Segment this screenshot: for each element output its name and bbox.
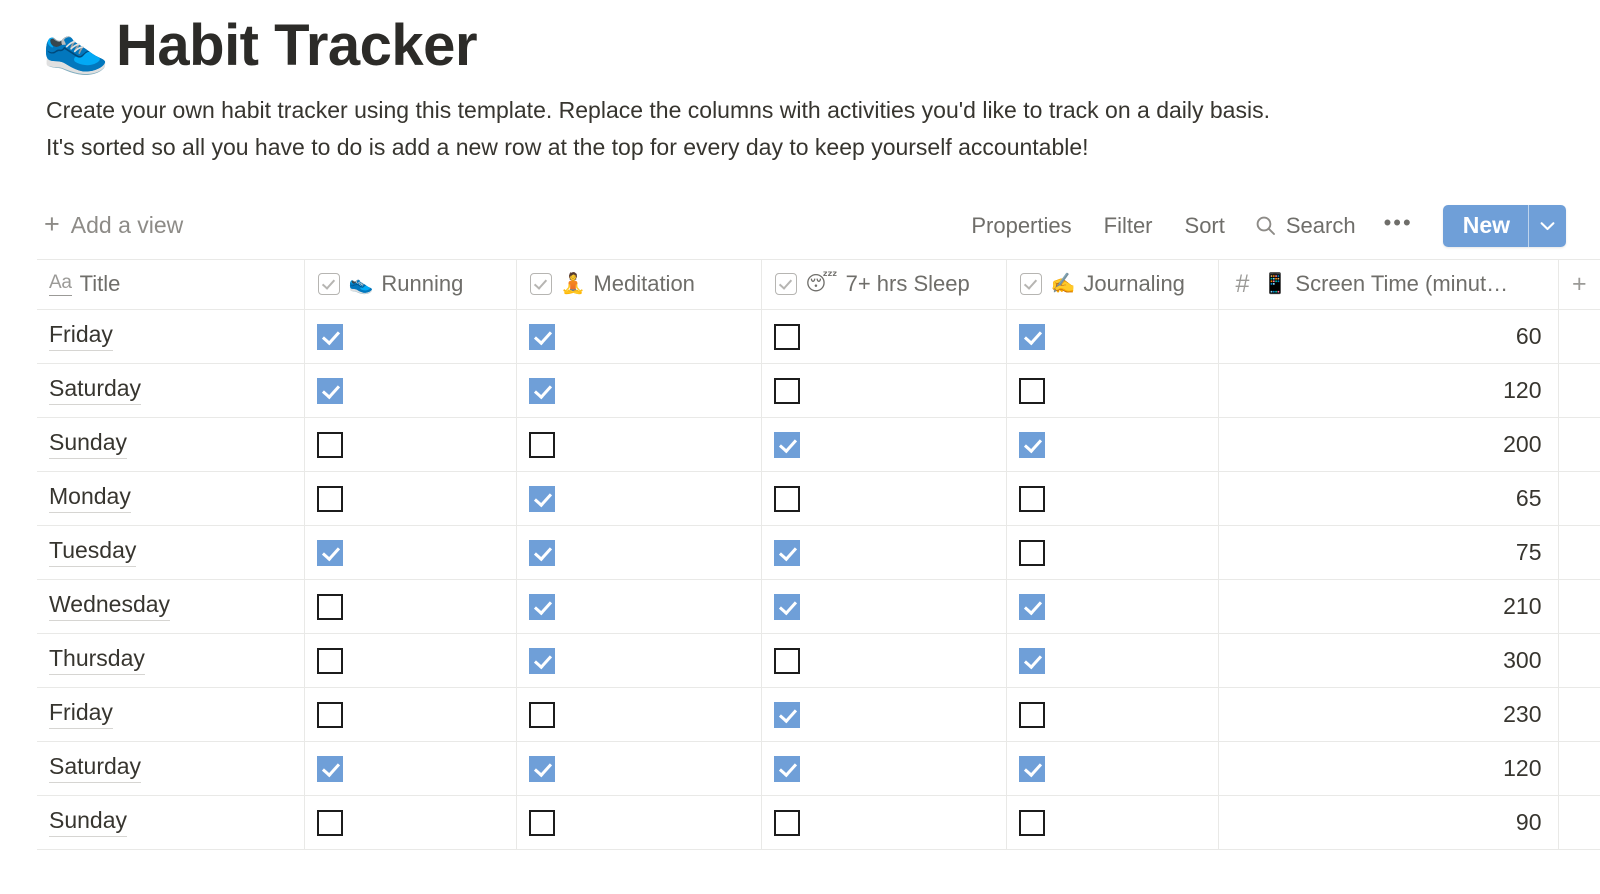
cell-spacer [1558, 309, 1600, 363]
cell-meditation[interactable] [516, 417, 761, 471]
checkbox-checked[interactable] [1019, 648, 1045, 674]
table-row[interactable]: Tuesday75 [37, 525, 1600, 579]
cell-sleep[interactable] [761, 741, 1006, 795]
checkbox-unchecked[interactable] [774, 378, 800, 404]
cell-screen-time[interactable]: 210 [1218, 579, 1558, 633]
table-row[interactable]: Thursday300 [37, 633, 1600, 687]
checkbox-icon [529, 272, 553, 296]
checkbox-unchecked[interactable] [317, 486, 343, 512]
row-title-cell[interactable]: Thursday [37, 633, 304, 687]
checkbox-checked[interactable] [1019, 594, 1045, 620]
cell-running[interactable] [304, 309, 516, 363]
new-button[interactable]: New [1443, 205, 1528, 247]
cell-meditation[interactable] [516, 363, 761, 417]
checkbox-checked[interactable] [774, 702, 800, 728]
checkbox-unchecked[interactable] [1019, 486, 1045, 512]
cell-screen-time[interactable]: 300 [1218, 633, 1558, 687]
cell-screen-time[interactable]: 90 [1218, 795, 1558, 849]
cell-meditation[interactable] [516, 795, 761, 849]
checkbox-checked[interactable] [529, 594, 555, 620]
sort-button[interactable]: Sort [1169, 209, 1241, 243]
habit-table: Aa Title 👟 Running [37, 259, 1600, 850]
database-table-container: Aa Title 👟 Running [0, 259, 1600, 850]
checkbox-unchecked[interactable] [774, 324, 800, 350]
column-header-screen-time[interactable]: # 📱 Screen Time (minut… [1218, 259, 1558, 309]
cell-sleep[interactable] [761, 417, 1006, 471]
cell-running[interactable] [304, 471, 516, 525]
writing-hand-icon: ✍️ [1051, 274, 1076, 294]
row-title-link[interactable]: Monday [49, 484, 131, 512]
cell-journaling[interactable] [1006, 525, 1218, 579]
checkbox-unchecked[interactable] [529, 702, 555, 728]
checkbox-checked[interactable] [774, 594, 800, 620]
running-shoe-icon: 👟 [349, 274, 374, 294]
add-view-label: Add a view [71, 212, 184, 239]
add-view-button[interactable]: + Add a view [38, 212, 183, 239]
cell-spacer [1558, 417, 1600, 471]
checkbox-icon [317, 272, 341, 296]
database-toolbar: + Add a view Properties Filter Sort Sear… [38, 203, 1566, 249]
plus-icon: + [44, 211, 60, 238]
running-shoe-icon[interactable]: 👟 [42, 19, 100, 73]
header-row: Aa Title 👟 Running [37, 259, 1600, 309]
row-title-cell[interactable]: Wednesday [37, 579, 304, 633]
table-row[interactable]: Monday65 [37, 471, 1600, 525]
row-title-link[interactable]: Sunday [49, 808, 127, 836]
cell-screen-time[interactable]: 200 [1218, 417, 1558, 471]
row-title-cell[interactable]: Friday [37, 309, 304, 363]
meditation-icon: 🧘 [561, 274, 586, 294]
cell-sleep[interactable] [761, 471, 1006, 525]
habit-tracker-page: 👟 Habit Tracker Create your own habit tr… [0, 0, 1600, 894]
cell-spacer [1558, 795, 1600, 849]
add-column-button[interactable]: + [1558, 259, 1600, 309]
row-title-link[interactable]: Friday [49, 700, 113, 728]
row-title-link[interactable]: Tuesday [49, 538, 136, 566]
search-icon [1255, 215, 1276, 236]
cell-running[interactable] [304, 363, 516, 417]
column-header-running-label: Running [381, 271, 463, 297]
column-header-sleep[interactable]: 😴 7+ hrs Sleep [761, 259, 1006, 309]
checkbox-unchecked[interactable] [317, 648, 343, 674]
row-title-link[interactable]: Friday [49, 322, 113, 350]
checkbox-unchecked[interactable] [774, 810, 800, 836]
row-title-link[interactable]: Thursday [49, 646, 145, 674]
checkbox-unchecked[interactable] [1019, 540, 1045, 566]
row-title-cell[interactable]: Monday [37, 471, 304, 525]
mobile-phone-icon: 📱 [1263, 274, 1288, 294]
checkbox-checked[interactable] [1019, 432, 1045, 458]
table-row[interactable]: Friday230 [37, 687, 1600, 741]
properties-button[interactable]: Properties [955, 209, 1087, 243]
cell-running[interactable] [304, 795, 516, 849]
aa-icon: Aa [49, 272, 72, 296]
cell-journaling[interactable] [1006, 309, 1218, 363]
column-header-journaling[interactable]: ✍️ Journaling [1006, 259, 1218, 309]
table-row[interactable]: Wednesday210 [37, 579, 1600, 633]
row-title-link[interactable]: Saturday [49, 376, 141, 404]
cell-screen-time[interactable]: 120 [1218, 741, 1558, 795]
hash-icon: # [1231, 272, 1255, 296]
column-header-title-label: Title [80, 271, 121, 297]
page-description: Create your own habit tracker using this… [0, 84, 1290, 167]
column-header-sleep-label: 7+ hrs Sleep [846, 271, 970, 297]
cell-meditation[interactable] [516, 633, 761, 687]
row-title-link[interactable]: Wednesday [49, 592, 170, 620]
checkbox-checked[interactable] [529, 378, 555, 404]
cell-running[interactable] [304, 633, 516, 687]
cell-screen-time[interactable]: 65 [1218, 471, 1558, 525]
checkbox-checked[interactable] [1019, 324, 1045, 350]
cell-journaling[interactable] [1006, 633, 1218, 687]
cell-journaling[interactable] [1006, 579, 1218, 633]
cell-sleep[interactable] [761, 525, 1006, 579]
checkbox-unchecked[interactable] [1019, 702, 1045, 728]
column-header-meditation[interactable]: 🧘 Meditation [516, 259, 761, 309]
checkbox-checked[interactable] [529, 648, 555, 674]
cell-meditation[interactable] [516, 687, 761, 741]
column-header-journaling-label: Journaling [1083, 271, 1185, 297]
row-title-cell[interactable]: Friday [37, 687, 304, 741]
cell-journaling[interactable] [1006, 471, 1218, 525]
cell-screen-time[interactable]: 120 [1218, 363, 1558, 417]
filter-button[interactable]: Filter [1088, 209, 1169, 243]
checkbox-checked[interactable] [774, 756, 800, 782]
chevron-down-icon[interactable] [1528, 205, 1566, 247]
cell-screen-time[interactable]: 60 [1218, 309, 1558, 363]
cell-journaling[interactable] [1006, 795, 1218, 849]
cell-journaling[interactable] [1006, 687, 1218, 741]
search-button[interactable]: Search [1241, 209, 1370, 243]
cell-running[interactable] [304, 525, 516, 579]
checkbox-icon [1019, 272, 1043, 296]
cell-screen-time[interactable]: 75 [1218, 525, 1558, 579]
cell-meditation[interactable] [516, 579, 761, 633]
checkbox-unchecked[interactable] [317, 594, 343, 620]
row-title-cell[interactable]: Sunday [37, 795, 304, 849]
cell-meditation[interactable] [516, 309, 761, 363]
cell-spacer [1558, 579, 1600, 633]
checkbox-checked[interactable] [317, 378, 343, 404]
cell-running[interactable] [304, 741, 516, 795]
cell-meditation[interactable] [516, 471, 761, 525]
table-row[interactable]: Saturday120 [37, 363, 1600, 417]
cell-sleep[interactable] [761, 579, 1006, 633]
checkbox-checked[interactable] [1019, 756, 1045, 782]
cell-journaling[interactable] [1006, 363, 1218, 417]
row-title-cell[interactable]: Tuesday [37, 525, 304, 579]
row-title-cell[interactable]: Saturday [37, 363, 304, 417]
column-header-title[interactable]: Aa Title [37, 259, 304, 309]
cell-journaling[interactable] [1006, 417, 1218, 471]
cell-journaling[interactable] [1006, 741, 1218, 795]
cell-running[interactable] [304, 417, 516, 471]
checkbox-unchecked[interactable] [529, 810, 555, 836]
table-row[interactable]: Sunday90 [37, 795, 1600, 849]
table-header: Aa Title 👟 Running [37, 259, 1600, 309]
checkbox-checked[interactable] [317, 540, 343, 566]
cell-sleep[interactable] [761, 363, 1006, 417]
cell-sleep[interactable] [761, 633, 1006, 687]
cell-meditation[interactable] [516, 525, 761, 579]
checkbox-checked[interactable] [317, 756, 343, 782]
cell-screen-time[interactable]: 230 [1218, 687, 1558, 741]
ellipsis-icon[interactable]: ••• [1370, 212, 1427, 239]
column-header-meditation-label: Meditation [593, 271, 695, 297]
table-body: Friday60Saturday120Sunday200Monday65Tues… [37, 309, 1600, 849]
cell-sleep[interactable] [761, 795, 1006, 849]
checkbox-checked[interactable] [774, 432, 800, 458]
checkbox-unchecked[interactable] [1019, 810, 1045, 836]
checkbox-unchecked[interactable] [317, 702, 343, 728]
cell-sleep[interactable] [761, 309, 1006, 363]
sleeping-face-icon: 😴 [806, 274, 838, 294]
row-title-link[interactable]: Sunday [49, 430, 127, 458]
checkbox-unchecked[interactable] [529, 432, 555, 458]
cell-spacer [1558, 363, 1600, 417]
checkbox-unchecked[interactable] [774, 486, 800, 512]
cell-spacer [1558, 471, 1600, 525]
page-title: Habit Tracker [116, 16, 477, 77]
checkbox-unchecked[interactable] [317, 432, 343, 458]
cell-spacer [1558, 741, 1600, 795]
checkbox-checked[interactable] [529, 486, 555, 512]
cell-sleep[interactable] [761, 687, 1006, 741]
toolbar-actions: Properties Filter Sort Search ••• New [955, 205, 1566, 247]
search-label: Search [1286, 213, 1356, 239]
checkbox-checked[interactable] [774, 540, 800, 566]
row-title-link[interactable]: Saturday [49, 754, 141, 782]
page-header: 👟 Habit Tracker [0, 0, 1600, 84]
column-header-running[interactable]: 👟 Running [304, 259, 516, 309]
checkbox-unchecked[interactable] [774, 648, 800, 674]
cell-running[interactable] [304, 687, 516, 741]
checkbox-checked[interactable] [529, 324, 555, 350]
column-header-screen-time-label: Screen Time (minut… [1295, 271, 1508, 297]
row-title-cell[interactable]: Sunday [37, 417, 304, 471]
table-row[interactable]: Sunday200 [37, 417, 1600, 471]
checkbox-checked[interactable] [317, 324, 343, 350]
checkbox-icon [774, 272, 798, 296]
row-title-cell[interactable]: Saturday [37, 741, 304, 795]
checkbox-unchecked[interactable] [317, 810, 343, 836]
checkbox-unchecked[interactable] [1019, 378, 1045, 404]
table-row[interactable]: Saturday120 [37, 741, 1600, 795]
cell-meditation[interactable] [516, 741, 761, 795]
cell-spacer [1558, 687, 1600, 741]
cell-spacer [1558, 633, 1600, 687]
new-button-group: New [1443, 205, 1566, 247]
table-row[interactable]: Friday60 [37, 309, 1600, 363]
plus-icon: + [1572, 270, 1587, 298]
checkbox-checked[interactable] [529, 756, 555, 782]
checkbox-checked[interactable] [529, 540, 555, 566]
cell-spacer [1558, 525, 1600, 579]
cell-running[interactable] [304, 579, 516, 633]
